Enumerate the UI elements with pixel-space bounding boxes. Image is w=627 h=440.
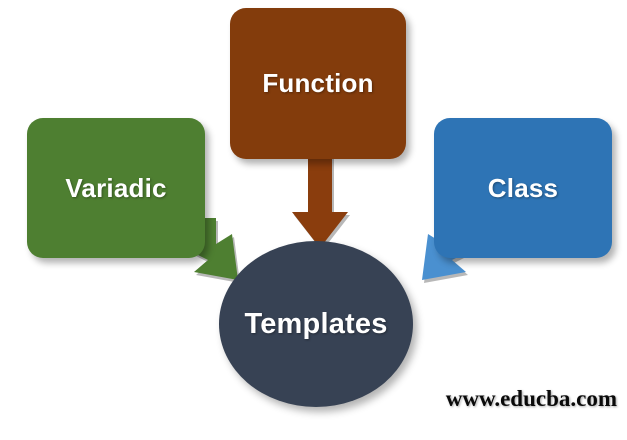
diagram-canvas: Function Variadic Class Templates www.ed…	[0, 0, 627, 440]
node-function[interactable]: Function	[230, 8, 406, 159]
node-variadic[interactable]: Variadic	[27, 118, 205, 258]
node-templates-label: Templates	[244, 308, 387, 341]
node-templates-center[interactable]: Templates	[219, 241, 413, 407]
node-variadic-label: Variadic	[65, 173, 166, 204]
node-class-label: Class	[488, 173, 558, 204]
node-function-label: Function	[262, 68, 373, 99]
watermark-text: www.educba.com	[446, 386, 617, 412]
node-class[interactable]: Class	[434, 118, 612, 258]
